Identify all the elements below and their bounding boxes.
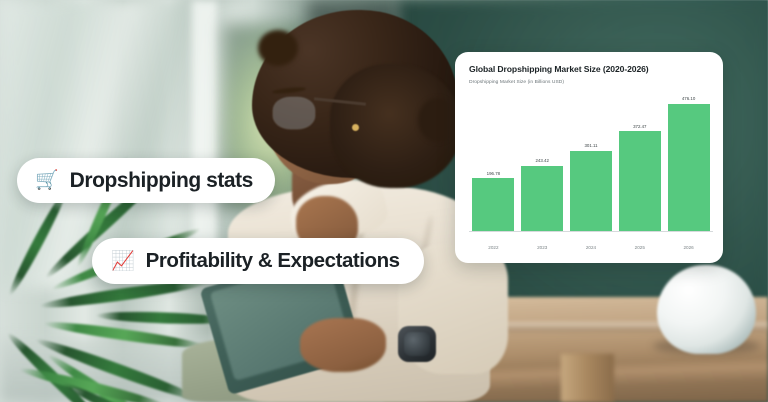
background-table-leg — [561, 354, 615, 402]
person-hair-curl — [258, 30, 298, 66]
chart-bar-column: 372.47 — [619, 92, 661, 231]
background-white-vase — [657, 265, 757, 353]
shopping-cart-icon: 🛒 — [35, 171, 59, 190]
chart-x-tick-label: 2024 — [570, 245, 612, 250]
background-window-mullion — [192, 0, 217, 249]
chart-plot-area: 196.78243.42301.11372.47476.10 202220232… — [469, 92, 713, 253]
pill-label: Dropshipping stats — [70, 169, 253, 193]
chart-x-tick-label: 2022 — [472, 245, 514, 250]
chart-subtitle: Dropshipping Market Size (in Billions US… — [469, 80, 564, 85]
chart-card: Global Dropshipping Market Size (2020-20… — [455, 52, 723, 263]
chart-x-axis — [469, 231, 713, 232]
person-hair-curl — [418, 98, 456, 142]
chart-x-tick-labels: 20222023202420252026 — [469, 245, 713, 250]
chart-bar — [668, 104, 710, 231]
chart-bar-value-label: 301.11 — [584, 143, 597, 148]
chart-bar-value-label: 372.47 — [633, 124, 646, 129]
chart-bar-column: 301.11 — [570, 92, 612, 231]
chart-bar-value-label: 196.78 — [487, 171, 500, 176]
eyeglasses-lens — [272, 96, 316, 130]
pill-label: Profitability & Expectations — [146, 249, 400, 273]
chart-bar — [619, 131, 661, 231]
wristwatch-face — [404, 332, 430, 356]
chart-increasing-icon: 📈 — [111, 252, 135, 271]
earring — [352, 124, 359, 131]
chart-bar-value-label: 243.42 — [535, 158, 548, 163]
chart-bar-column: 243.42 — [521, 92, 563, 231]
chart-title: Global Dropshipping Market Size (2020-20… — [469, 64, 649, 74]
chart-bar — [570, 151, 612, 231]
chart-bars: 196.78243.42301.11372.47476.10 — [469, 92, 713, 231]
chart-x-tick-label: 2025 — [619, 245, 661, 250]
pill-dropshipping-stats[interactable]: 🛒 Dropshipping stats — [17, 158, 275, 203]
chart-bar — [521, 166, 563, 231]
chart-x-tick-label: 2023 — [521, 245, 563, 250]
chart-x-tick-label: 2026 — [668, 245, 710, 250]
chart-bar-column: 196.78 — [472, 92, 514, 231]
chart-bar-column: 476.10 — [668, 92, 710, 231]
pill-profitability-expectations[interactable]: 📈 Profitability & Expectations — [92, 238, 424, 284]
person-hand-on-tablet — [300, 318, 386, 372]
promo-graphic: Global Dropshipping Market Size (2020-20… — [0, 0, 768, 402]
chart-bar — [472, 178, 514, 231]
chart-bar-value-label: 476.10 — [682, 96, 695, 101]
